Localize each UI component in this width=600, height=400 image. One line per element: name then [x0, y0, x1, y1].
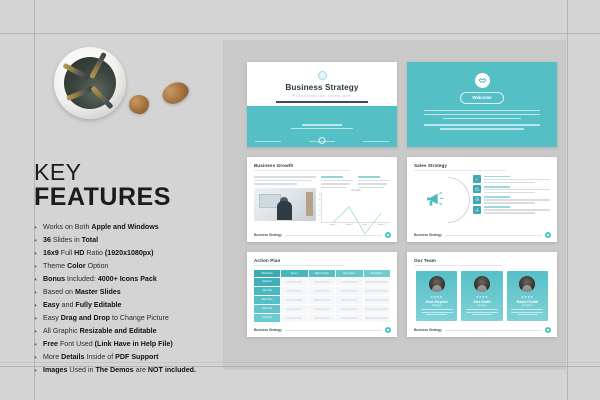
- feature-text: Theme: [43, 262, 67, 270]
- slide-welcome[interactable]: Welcome: [407, 62, 557, 147]
- feature-text: Free: [43, 340, 58, 348]
- placeholder-line: [517, 314, 538, 315]
- feature-text: PDF Support: [115, 353, 158, 361]
- placeholder-line: [321, 180, 353, 182]
- sales-item-list: [473, 175, 550, 225]
- table-row-header: Task Three: [254, 296, 280, 304]
- table-cell: [364, 287, 391, 295]
- slide-footer: Business Strategy: [414, 327, 551, 333]
- feature-text: Font Used: [58, 340, 95, 348]
- slide-heading: Our Team: [414, 258, 550, 263]
- growth-text-lines: [254, 176, 316, 185]
- placeholder-line: [321, 183, 350, 185]
- feature-text: Details: [61, 353, 84, 361]
- table-cell: [336, 314, 363, 322]
- table-cell: [309, 287, 336, 295]
- action-plan-table: Task NameOwnerStart & FinishDays TakenDe…: [254, 270, 390, 322]
- team-member-card[interactable]: ★★★★Robert SmithDeveloper: [507, 271, 548, 321]
- feature-item: Based on Master Slides: [34, 289, 214, 296]
- target-icon: [473, 196, 481, 204]
- feature-text: Drag and Drop: [61, 314, 110, 322]
- placeholder-line: [484, 202, 535, 204]
- column-heading-bar: [321, 176, 343, 178]
- chart-y-tick: 40: [319, 210, 322, 212]
- sales-strategy-item[interactable]: [473, 196, 550, 204]
- footer-bar: [309, 141, 335, 142]
- table-header-cell: Start & Finish: [309, 270, 336, 277]
- footer-badge-icon: [385, 327, 391, 333]
- feature-text: Used in: [67, 366, 95, 374]
- table-cell: [309, 278, 336, 286]
- feature-text: Master Slides: [75, 288, 121, 296]
- placeholder-line: [484, 199, 550, 201]
- feature-text: Apple and Windows: [91, 223, 158, 231]
- growth-bar-chart: Growth 100806040200 Option 1Option 2Opti…: [321, 192, 390, 223]
- table-cell: [336, 287, 363, 295]
- slide-subtitle-text: Presentation Template: [293, 94, 352, 98]
- feature-text: Color: [67, 262, 86, 270]
- slide-subheading-lines: [254, 265, 390, 267]
- gear-icon: [473, 206, 481, 214]
- footer-label: Business Strategy: [254, 328, 282, 332]
- title-slide-top: Business Strategy Presentation Template: [247, 62, 397, 106]
- briefcase-icon: [473, 185, 481, 193]
- footer-rule: [285, 235, 382, 236]
- member-name: Alex Smith: [473, 300, 491, 304]
- title-rule: [276, 101, 368, 103]
- slide-grid: Business Strategy Presentation Template …: [247, 62, 567, 340]
- slide-heading: Business Growth: [254, 163, 390, 168]
- table-cell: [364, 296, 391, 304]
- feature-text: 16x9: [43, 249, 59, 257]
- placeholder-line: [254, 183, 297, 185]
- footer-badge-icon: [545, 232, 551, 238]
- sales-strategy-item[interactable]: [473, 185, 550, 193]
- slide-subheading-lines: [414, 170, 550, 172]
- feature-text: Inside of: [84, 353, 115, 361]
- bowl-image: [54, 47, 126, 119]
- placeholder-line: [484, 212, 535, 214]
- feature-text: Bonus: [43, 275, 65, 283]
- slide-subheading-lines: [254, 170, 390, 172]
- feature-text: Resizable and Editable: [80, 327, 157, 335]
- placeholder-line: [426, 314, 447, 315]
- table-row-header: Task Four: [254, 305, 280, 313]
- feature-item: More Details Inside of PDF Support: [34, 354, 214, 361]
- table-row-header: Task Five: [254, 314, 280, 322]
- footer-bar: [255, 141, 281, 142]
- bowl-tool-icon: [62, 63, 89, 81]
- chart-y-tick: 60: [319, 205, 322, 207]
- feature-text: (1920x1080px): [105, 249, 154, 257]
- slide-our-team[interactable]: Our Team ★★★★Jhon StephenManager★★★★Alex…: [407, 252, 557, 337]
- placeholder-line: [421, 309, 453, 310]
- footer-bar: [363, 141, 389, 142]
- placeholder-line: [254, 265, 344, 267]
- table-row-header: Task Two: [254, 287, 280, 295]
- feature-text: to Change Picture: [110, 314, 169, 322]
- sales-strategy-item[interactable]: [473, 206, 550, 214]
- feature-text: The Demos: [95, 366, 133, 374]
- chart-x-tick: Option 2: [345, 224, 353, 226]
- member-bio-lines: [421, 309, 453, 315]
- placeholder-line: [424, 110, 540, 111]
- footer-badge-icon: [545, 327, 551, 333]
- placeholder-line: [484, 189, 550, 191]
- guide-line-horizontal-bottom: [0, 366, 600, 367]
- placeholder-line: [358, 180, 390, 182]
- table-cell: [281, 296, 308, 304]
- placeholder-line: [302, 124, 342, 126]
- member-name: Jhon Stephen: [425, 300, 447, 304]
- team-content: Our Team: [407, 252, 557, 266]
- avatar: [474, 276, 490, 292]
- nut-image: [129, 95, 149, 114]
- member-bio-lines: [511, 309, 543, 315]
- feature-item: All Graphic Resizable and Editable: [34, 328, 214, 335]
- placeholder-line: [466, 309, 498, 310]
- handshake-icon: [475, 73, 490, 88]
- table-header-cell: Task Name: [254, 270, 280, 277]
- rating-stars: ★★★★: [430, 295, 442, 299]
- slide-heading: Action Plan: [254, 258, 390, 263]
- team-card-list: ★★★★Jhon StephenManager★★★★Alex SmithDes…: [407, 271, 557, 321]
- placeholder-line: [443, 118, 522, 119]
- headline-key: KEY: [34, 161, 214, 184]
- table-cell: [281, 305, 308, 313]
- feature-item: Easy and Fully Editable: [34, 302, 214, 309]
- feature-text: Easy: [43, 314, 61, 322]
- headline-features: FEATURES: [34, 185, 214, 211]
- chart-y-axis: 100806040200: [319, 194, 322, 222]
- item-heading-bar: [484, 196, 510, 198]
- slide-sales-strategy[interactable]: Sales Strategy Business Strategy: [407, 157, 557, 242]
- sales-item-text: [484, 196, 550, 204]
- placeholder-line: [414, 265, 502, 267]
- feature-text: NOT included.: [148, 366, 196, 374]
- sales-content: Sales Strategy: [407, 157, 557, 171]
- table-cell: [336, 296, 363, 304]
- member-bio-lines: [466, 309, 498, 315]
- guide-line-vertical-right: [567, 0, 568, 400]
- avatar: [519, 276, 535, 292]
- feature-text: Ratio: [84, 249, 105, 257]
- feature-item: 16x9 Full HD Ratio (1920x1080px): [34, 250, 214, 257]
- table-header-cell: Description: [364, 270, 391, 277]
- feature-text: HD: [74, 249, 84, 257]
- guide-line-vertical-left: [34, 0, 35, 400]
- slide-footer: Business Strategy: [254, 327, 391, 333]
- placeholder-line: [254, 176, 316, 178]
- rating-stars: ★★★★: [521, 295, 533, 299]
- table-cell: [364, 278, 391, 286]
- team-member-card[interactable]: ★★★★Alex SmithDesigner: [461, 271, 502, 321]
- feature-text: and: [60, 301, 76, 309]
- item-heading-bar: [484, 206, 510, 208]
- person-body-shape: [277, 201, 292, 220]
- placeholder-line: [424, 124, 540, 125]
- footer-rule: [445, 235, 542, 236]
- rating-stars: ★★★★: [476, 295, 488, 299]
- placeholder-line: [511, 312, 543, 313]
- chart-title: Growth: [322, 188, 390, 192]
- feature-text: Based on: [43, 288, 75, 296]
- placeholder-line: [414, 170, 506, 172]
- feature-text: More: [43, 353, 61, 361]
- megaphone-icon: [424, 191, 446, 207]
- table-header-cell: Owner: [281, 270, 308, 277]
- table-row-header: Task One: [254, 278, 280, 286]
- feature-text: are: [134, 366, 148, 374]
- slide-title-text: Business Strategy: [285, 83, 358, 92]
- feature-item: Works on Both Apple and Windows: [34, 224, 214, 231]
- bowl-tool-icon: [89, 52, 107, 79]
- nut-image: [159, 78, 192, 107]
- feature-text: All Graphic: [43, 327, 80, 335]
- chart-icon: [473, 175, 481, 183]
- placeholder-line: [511, 309, 543, 310]
- growth-right: Growth 100806040200 Option 1Option 2Opti…: [321, 176, 390, 223]
- sales-body: [407, 175, 557, 225]
- feature-list: Works on Both Apple and Windows36 Slides…: [34, 224, 214, 375]
- slide-business-growth[interactable]: Business Growth: [247, 157, 397, 242]
- guide-line-horizontal-soft: [0, 362, 600, 363]
- placeholder-line: [484, 182, 535, 184]
- chart-y-tick: 0: [319, 220, 322, 222]
- chart-x-tick: Option 3: [361, 224, 369, 226]
- feature-item: Theme Color Option: [34, 263, 214, 270]
- table-cell: [309, 296, 336, 304]
- feature-text: 4000+ Icons Pack: [98, 275, 157, 283]
- avatar: [429, 276, 445, 292]
- placeholder-line: [291, 128, 353, 130]
- feature-text: 36: [43, 236, 51, 244]
- placeholder-line: [466, 312, 498, 313]
- feature-text: Option: [86, 262, 109, 270]
- guide-line-horizontal-top: [0, 33, 600, 34]
- growth-columns: [321, 176, 390, 188]
- slide-heading: Sales Strategy: [414, 163, 550, 168]
- table-cell: [309, 314, 336, 322]
- placeholder-line: [484, 179, 550, 181]
- door-shape: [306, 192, 313, 216]
- logo-badge-icon: [318, 71, 327, 80]
- placeholder-line: [484, 209, 550, 211]
- placeholder-line: [472, 314, 493, 315]
- growth-column: [358, 176, 390, 188]
- team-member-card[interactable]: ★★★★Jhon StephenManager: [416, 271, 457, 321]
- sales-diagram: [414, 175, 470, 225]
- feature-item: Easy Drag and Drop to Change Picture: [34, 315, 214, 322]
- footer-label: Business Strategy: [254, 233, 282, 237]
- feature-text: (Link Have in Help File): [95, 340, 173, 348]
- table-header-cell: Days Taken: [336, 270, 363, 277]
- growth-body: Growth 100806040200 Option 1Option 2Opti…: [254, 176, 390, 223]
- placeholder-line: [358, 183, 387, 185]
- member-role: Designer: [477, 305, 486, 307]
- footer-rule: [445, 330, 542, 331]
- table-cell: [336, 305, 363, 313]
- welcome-placeholder-lines: [424, 110, 540, 130]
- feature-item: Free Font Used (Link Have in Help File): [34, 341, 214, 348]
- placeholder-line: [254, 170, 350, 172]
- bowl-tool-icon: [90, 86, 113, 110]
- hero-photo: [34, 43, 204, 143]
- table-cell: [364, 305, 391, 313]
- member-role: Manager: [432, 305, 441, 307]
- chart-x-axis: Option 1Option 2Option 3Option 4: [325, 224, 389, 226]
- table-cell: [281, 278, 308, 286]
- feature-text: Works on Both: [43, 223, 91, 231]
- member-role: Developer: [522, 305, 532, 307]
- chart-y-tick: 80: [319, 199, 322, 201]
- table-cell: [336, 278, 363, 286]
- item-heading-bar: [484, 176, 510, 178]
- growth-left: [254, 176, 316, 223]
- feature-text: Images: [43, 366, 67, 374]
- column-heading-bar: [358, 176, 380, 178]
- title-slide-bottom: [247, 106, 397, 147]
- page-title: KEY FEATURES: [34, 161, 214, 211]
- placeholder-line: [484, 192, 535, 194]
- table-cell: [281, 287, 308, 295]
- welcome-label: Welcome: [460, 92, 503, 104]
- member-name: Robert Smith: [517, 300, 538, 304]
- chart-x-tick: Option 1: [329, 224, 337, 226]
- footer-label: Business Strategy: [414, 233, 442, 237]
- sales-item-text: [484, 175, 550, 183]
- feature-item: Images Used in The Demos are NOT include…: [34, 367, 214, 374]
- feature-text: Total: [82, 236, 98, 244]
- footer-badge-icon: [385, 232, 391, 238]
- chart-y-tick: 100: [319, 194, 322, 196]
- feature-text: Fully Editable: [75, 301, 121, 309]
- slide-title[interactable]: Business Strategy Presentation Template: [247, 62, 397, 147]
- growth-content: Business Growth: [247, 157, 397, 223]
- growth-column: [321, 176, 353, 188]
- feature-text: Included:: [65, 275, 98, 283]
- slide-subheading-lines: [414, 265, 550, 267]
- feature-text: Slides in: [51, 236, 82, 244]
- placeholder-line: [421, 312, 453, 313]
- left-column: KEY FEATURES Works on Both Apple and Win…: [34, 33, 214, 380]
- slide-footer: Business Strategy: [414, 232, 551, 238]
- feature-item: 36 Slides in Total: [34, 237, 214, 244]
- table-cell: [281, 314, 308, 322]
- slide-footer: Business Strategy: [254, 232, 391, 238]
- action-content: Action Plan Task NameOwnerStart & Finish…: [247, 252, 397, 322]
- slide-action-plan[interactable]: Action Plan Task NameOwnerStart & Finish…: [247, 252, 397, 337]
- footer-rule: [285, 330, 382, 331]
- chart-x-tick: Option 4: [377, 224, 385, 226]
- title-footer-bars: [255, 141, 389, 142]
- item-heading-bar: [484, 186, 510, 188]
- chart-y-tick: 20: [319, 215, 322, 217]
- placeholder-line: [440, 128, 524, 129]
- sales-strategy-item[interactable]: [473, 175, 550, 183]
- bowl-tool-icon: [66, 86, 94, 101]
- footer-label: Business Strategy: [414, 328, 442, 332]
- feature-text: Full: [59, 249, 74, 257]
- feature-text: Easy: [43, 301, 60, 309]
- table-cell: [309, 305, 336, 313]
- table-cell: [364, 314, 391, 322]
- feature-item: Bonus Included: 4000+ Icons Pack: [34, 276, 214, 283]
- growth-photo: [254, 188, 316, 221]
- placeholder-line: [254, 180, 312, 182]
- sales-item-text: [484, 206, 550, 214]
- placeholder-line: [424, 114, 540, 115]
- sales-item-text: [484, 185, 550, 193]
